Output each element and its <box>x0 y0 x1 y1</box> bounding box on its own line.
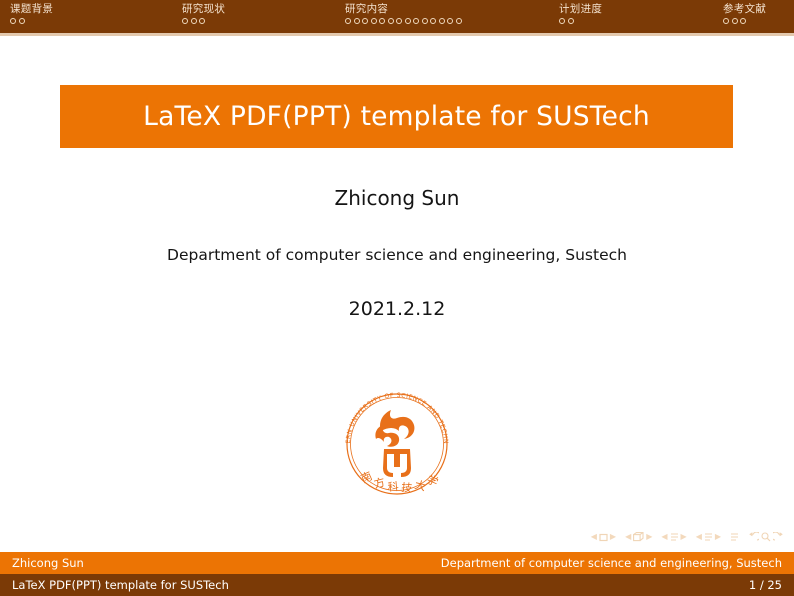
footer-author: Zhicong Sun <box>12 556 84 570</box>
section-mark-icon[interactable] <box>704 532 713 542</box>
author-name: Zhicong Sun <box>0 186 794 210</box>
logo-chinese-text: 南 方 科 技 大 学 <box>359 469 441 495</box>
nav-section-label: 课题背景 <box>10 3 53 15</box>
nav-slide-dot[interactable] <box>354 18 360 24</box>
nav-slide-dot[interactable] <box>388 18 394 24</box>
nav-slide-dot[interactable] <box>191 18 197 24</box>
nav-slide-dot[interactable] <box>362 18 368 24</box>
frame-cube-icon[interactable] <box>633 532 644 542</box>
navsym-frame-group[interactable]: ◀ ▶ <box>625 532 652 542</box>
nav-slide-dot[interactable] <box>379 18 385 24</box>
navsym-slide-group[interactable]: ◀ ▶ <box>591 533 616 542</box>
nav-slide-dot[interactable] <box>199 18 205 24</box>
nav-slide-dot[interactable] <box>182 18 188 24</box>
nav-slide-dot[interactable] <box>723 18 729 24</box>
footer-page-number: 1 / 25 <box>749 578 782 592</box>
nav-slide-dot[interactable] <box>559 18 565 24</box>
section-next-icon[interactable]: ▶ <box>715 533 721 541</box>
nav-section-1[interactable]: 研究现状 <box>182 3 225 24</box>
back-symbol-icon[interactable] <box>748 532 759 542</box>
search-symbol-icon[interactable] <box>761 532 771 542</box>
institute-name: Department of computer science and engin… <box>0 246 794 264</box>
nav-section-dots[interactable] <box>559 18 602 24</box>
frame-next-icon[interactable]: ▶ <box>646 533 652 541</box>
navsym-subsection-group[interactable]: ◀ ▶ <box>661 532 686 542</box>
footer-title: LaTeX PDF(PPT) template for SUSTech <box>12 578 229 592</box>
forward-symbol-icon[interactable] <box>773 532 784 542</box>
subsection-prev-icon[interactable]: ◀ <box>661 533 667 541</box>
header-rule <box>0 33 794 36</box>
navsym-section-group[interactable]: ◀ ▶ <box>696 532 721 542</box>
section-prev-icon[interactable]: ◀ <box>696 533 702 541</box>
beamer-navigation-symbols[interactable]: ◀ ▶ ◀ ▶ ◀ ▶ ◀ ▶ <box>591 529 784 545</box>
nav-section-dots[interactable] <box>10 18 53 24</box>
nav-slide-dot[interactable] <box>413 18 419 24</box>
presentation-mark-icon[interactable] <box>730 532 739 542</box>
navsym-presentation-group[interactable] <box>730 532 739 542</box>
slide-frame-icon[interactable] <box>599 533 608 542</box>
nav-section-3[interactable]: 计划进度 <box>559 3 602 24</box>
logo-torch-emblem <box>375 410 414 477</box>
nav-section-dots[interactable] <box>345 18 462 24</box>
svg-text:技: 技 <box>401 481 413 495</box>
nav-slide-dot[interactable] <box>371 18 377 24</box>
nav-slide-dot[interactable] <box>422 18 428 24</box>
sustech-logo: SOUTHERN UNIVERSITY OF SCIENCE AND TECHN… <box>338 387 456 497</box>
nav-section-label: 研究现状 <box>182 3 225 15</box>
slide-next-icon[interactable]: ▶ <box>610 533 616 541</box>
frame-prev-icon[interactable]: ◀ <box>625 533 631 541</box>
presentation-date: 2021.2.12 <box>0 298 794 320</box>
svg-text:科: 科 <box>387 479 399 494</box>
nav-section-label: 研究内容 <box>345 3 462 15</box>
svg-text:大: 大 <box>413 477 427 493</box>
nav-slide-dot[interactable] <box>568 18 574 24</box>
nav-section-0[interactable]: 课题背景 <box>10 3 53 24</box>
nav-section-label: 参考文献 <box>723 3 766 15</box>
nav-slide-dot[interactable] <box>447 18 453 24</box>
svg-text:方: 方 <box>372 475 386 491</box>
subsection-mark-icon[interactable] <box>670 532 679 542</box>
footer-bar-author: Zhicong Sun Department of computer scien… <box>0 552 794 574</box>
nav-slide-dot[interactable] <box>439 18 445 24</box>
subsection-next-icon[interactable]: ▶ <box>681 533 687 541</box>
nav-slide-dot[interactable] <box>405 18 411 24</box>
title-banner: LaTeX PDF(PPT) template for SUSTech <box>60 85 733 148</box>
nav-slide-dot[interactable] <box>19 18 25 24</box>
nav-section-2[interactable]: 研究内容 <box>345 3 462 24</box>
nav-slide-dot[interactable] <box>430 18 436 24</box>
slide-prev-icon[interactable]: ◀ <box>591 533 597 541</box>
nav-slide-dot[interactable] <box>732 18 738 24</box>
nav-slide-dot[interactable] <box>740 18 746 24</box>
nav-slide-dot[interactable] <box>396 18 402 24</box>
nav-section-label: 计划进度 <box>559 3 602 15</box>
navsym-doc-group[interactable] <box>748 532 784 542</box>
nav-slide-dot[interactable] <box>345 18 351 24</box>
nav-slide-dot[interactable] <box>456 18 462 24</box>
footer-institute: Department of computer science and engin… <box>441 556 782 570</box>
nav-section-dots[interactable] <box>723 18 766 24</box>
page-title: LaTeX PDF(PPT) template for SUSTech <box>143 101 650 132</box>
nav-slide-dot[interactable] <box>10 18 16 24</box>
footer-bar-title: LaTeX PDF(PPT) template for SUSTech 1 / … <box>0 574 794 596</box>
nav-section-4[interactable]: 参考文献 <box>723 3 766 24</box>
nav-section-dots[interactable] <box>182 18 225 24</box>
svg-text:学: 学 <box>425 472 441 489</box>
